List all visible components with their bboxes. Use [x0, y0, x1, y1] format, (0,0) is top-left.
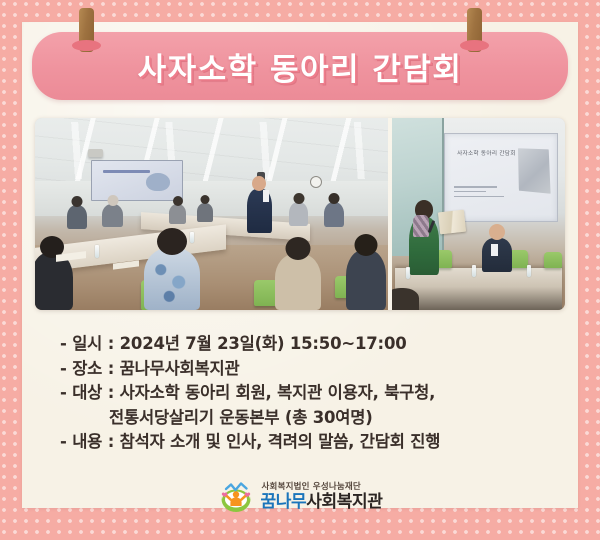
- foreground-attendee-left: [35, 252, 73, 310]
- chair-right-3: [544, 252, 562, 268]
- detail-line-program: - 내용 : 참석자 소개 및 인사, 격려의 말씀, 간담회 진행: [60, 430, 540, 455]
- footer-logo: 사회복지법인 우성나눔재단 꿈나무사회복지관: [0, 481, 600, 513]
- foreground-head-right-photo: [392, 288, 419, 310]
- wooden-peg-right-icon: [467, 8, 482, 52]
- detail-line-audience: - 대상 : 사자소학 동아리 회원, 복지관 이용자, 북구청,: [60, 381, 540, 406]
- wall-clock-icon: [310, 176, 322, 188]
- foundation-name: 사회복지법인 우성나눔재단: [261, 483, 383, 492]
- photo-speaker-with-book: 사자소학 동아리 간담회: [392, 118, 565, 310]
- speaker-shirt: [263, 190, 269, 202]
- slide-title-text: 사자소학 동아리 간담회: [454, 150, 519, 160]
- organization-name-rest: 사회복지관: [306, 492, 382, 512]
- water-bottle-2: [190, 232, 194, 243]
- water-bottle-right-1: [406, 267, 410, 279]
- attendee-far-4: [197, 203, 213, 222]
- slide-bullet-lines: [454, 186, 524, 200]
- ceiling-projector-icon: [88, 149, 103, 157]
- open-book: [438, 210, 466, 235]
- photo-strip: 사자소학 동아리 간담회: [35, 118, 565, 310]
- seated-man-shirt: [491, 244, 498, 256]
- wooden-peg-left-icon: [79, 8, 94, 52]
- dream-tree-child-emblem-icon: [218, 481, 254, 513]
- organization-name-highlight: 꿈나무: [261, 492, 307, 512]
- poster-canvas: 사자소학 동아리 간담회: [0, 0, 600, 540]
- detail-line-place: - 장소 : 꿈나무사회복지관: [60, 357, 540, 382]
- attendee-right-2: [324, 202, 344, 227]
- woman-speaker-scarf: [413, 215, 429, 237]
- projection-screen: [91, 160, 183, 200]
- foreground-attendee-right: [275, 254, 321, 310]
- logo-text-block: 사회복지법인 우성나눔재단 꿈나무사회복지관: [261, 483, 383, 511]
- attendee-right-1: [289, 202, 308, 226]
- water-bottle-right-2: [472, 265, 476, 277]
- attendee-far-3: [169, 204, 186, 224]
- presentation-screen: 사자소학 동아리 간담회: [444, 133, 558, 221]
- room-backdrop: [35, 118, 388, 310]
- water-bottle-1: [95, 245, 99, 258]
- title-banner-area: 사자소학 동아리 간담회: [22, 22, 578, 102]
- detail-line-audience-cont: 전통서당살리기 운동본부 (총 30여명): [60, 406, 540, 431]
- foreground-attendee-floral: [144, 248, 200, 310]
- foreground-attendee-far-right: [346, 250, 386, 310]
- detail-line-datetime: - 일시 : 2024년 7월 23일(화) 15:50~17:00: [60, 332, 540, 357]
- event-details: - 일시 : 2024년 7월 23일(화) 15:50~17:00 - 장소 …: [60, 332, 540, 455]
- room-backdrop-right: 사자소학 동아리 간담회: [392, 118, 565, 310]
- poster-title: 사자소학 동아리 간담회: [138, 44, 463, 89]
- attendee-far-1: [67, 205, 87, 229]
- attendee-far-2: [102, 204, 123, 227]
- water-bottle-right-3: [527, 265, 531, 277]
- photo-meeting-room-wide: [35, 118, 388, 310]
- organization-name: 꿈나무사회복지관: [261, 494, 383, 511]
